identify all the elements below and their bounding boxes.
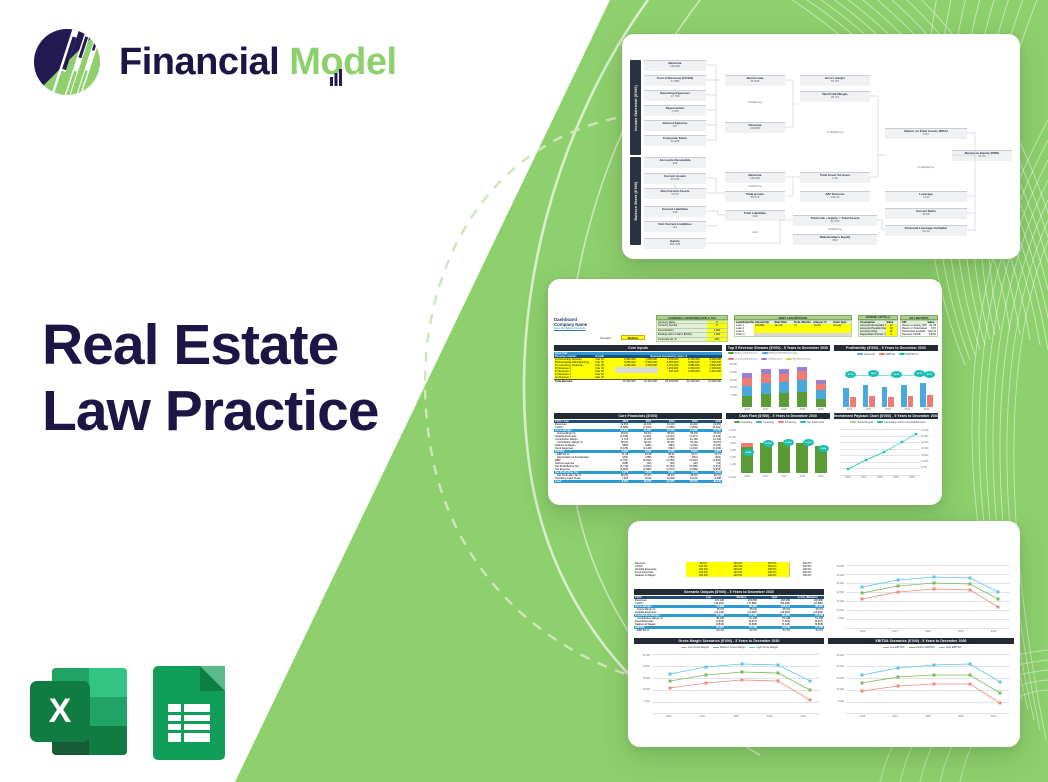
du-op-add: Add [725,230,785,234]
page-title: Real Estate Law Practice [42,312,472,444]
du-box-current-ratio: Current Ratio 58.98 [885,208,967,219]
du-box-revenue-3: Revenue 136,800 [725,172,785,183]
plot-gross-margin-scenarios [652,654,820,714]
core-inputs-table: Case Year Revenue streams Growth Revenue… [554,352,722,383]
yaxis-gross-margin-scenarios: 25,00020,000 15,00010,000 5,000- [634,654,650,714]
microsoft-excel-icon[interactable]: X [30,663,127,760]
data-label-bubble: 40.71 [924,371,935,378]
data-label-bubble: 10,050 [783,439,794,446]
table-row: Salaries & Wages 100.0% 100.0% 100.0% 10… [634,574,824,577]
du-box-net-profit-margin: Net Profit Margin 35.7% [800,91,870,102]
du-box-revenue: Revenue 136,800 [644,60,706,71]
legend-gross-margin-scenarios: Low Gross Margin Medium Gross Margin Hig… [652,646,807,649]
dashboard-sheet: Dashboard Company Name Go to the Table o… [548,279,942,505]
working-capital-table: Assumption Value Accounts Receivable Day… [858,320,898,337]
yaxis-ebitda-scenarios: 25,00020,000 15,00010,000 5,000- [828,654,844,714]
table-row: EBITDA %60.1%52.0%57.0%52.0% [634,629,824,632]
du-box-non-current-liabilities: Non Current Liabilities 101 [644,221,706,232]
legend-revenue-streams: A) Accounting Services B) Real Estate Ma… [728,352,830,361]
currency-rows: Currency Name $ Currency Symbol $ Denomi… [656,320,728,342]
du-box-current-liabilities: Current Liabilities 648 [644,206,706,217]
du-op-divided-2: divided by [725,184,785,188]
chart-title-cash-flow: Cash Flow ($'000) - 5 Years to December … [726,413,830,419]
excel-x-letter: X [30,681,90,742]
financial-model-circle-logo [31,26,103,98]
dashboard-screenshot[interactable]: Dashboard Company Name Go to the Table o… [548,279,942,505]
du-box-total-liab-equity: Total Liab + Equity = Total Assets 50,57… [793,215,877,226]
data-label-bubble: 41.28 [845,371,856,378]
du-op-divided-1: divided by [725,100,785,104]
file-format-icons: X [30,663,225,760]
data-label-bubble: 40.52 [891,371,902,378]
legend-profitability: Revenue EBITDA EBITDA % [848,353,928,356]
table-row: Depreciation Period, Years 5 [859,333,898,337]
brand-lockup: Financial Model [31,26,397,98]
debt-assumptions-table: Loan/Grant Name Amount ($) Start Date Te… [734,320,852,337]
xaxis-cash-flow: 20262027 20282029 2030 [738,475,830,478]
data-label-bubble: 8,250 [818,445,829,452]
du-box-non-current-assets: Non Current Assets 5,570 [644,188,706,199]
du-box-corporate-taxes: Corporate Taxes 20,926 [644,135,706,146]
du-box-net-income: Net Income 48,828 [725,75,785,86]
chart-title-profitability: Profitability ($'000) - 5 Years to Decem… [834,345,938,351]
ebitda-scenario-lines [846,654,1010,714]
xaxis-revenue-scenarios: 20262027 20282029 2030 [846,630,1010,633]
du-box-total-liabilities: Total Liabilities 949 [725,210,785,221]
legend-investment-payback: Payback goal Cumulative Cash (nominal/di… [848,421,928,424]
panel-key-metrics: KEY METRICS KPI Value Return on Equity (… [900,315,938,337]
brand-word-model: Model [289,41,396,83]
scenario-selector-label: Scenario [600,336,611,340]
plot-revenue-streams [738,363,830,407]
plot-ebitda-scenarios [846,654,1010,714]
brand-wordmark: Financial Model [119,43,397,81]
yaxis-revenue-scenarios: 35,00030,000 25,00020,000 15,00010,000 5… [828,565,844,629]
data-label-bubble: 8,004 [743,449,754,456]
data-label-bubble: 10,290 [763,440,774,447]
key-metrics-table: KPI Value Return on Equity (ROE) 61.03 R… [900,320,938,337]
du-box-leverage: Leverage 1.9% [885,191,967,202]
core-inputs-title: Core Inputs [554,345,722,351]
plot-investment-payback [840,429,920,475]
scenario-outputs-title: Scenario Outputs ($'000) - 5 Years to De… [634,589,824,595]
chart-title-gross-margin-scenarios: Gross Margin Scenarios ($'000) - 5 Years… [634,638,824,644]
headline-line-1: Real Estate [42,313,338,377]
google-sheets-icon[interactable] [153,666,225,760]
du-box-accounts-receivable: Accounts Receivable 948 [644,157,706,168]
du-box-roa: Return on Total Assets (ROA) 0.97 [885,128,967,139]
plot-profitability: 41.28 40.59 40.52 40.71 40.71 [840,362,936,407]
du-box-gross-margin: Gross margin 65.0% [800,75,870,86]
dashboard-title-block: Dashboard Company Name Go to the Table o… [554,317,587,330]
brand-word-financial: Financial [119,41,279,83]
sheets-table-glyph-icon [168,704,210,742]
chart-title-ebitda-scenarios: EBITDA Scenarios ($'000) - 5 Years to De… [828,638,1014,644]
du-op-multiplied-2: multiplied by [885,165,967,169]
dupont-sheet: Income Statement ($'000) Balance Sheet (… [622,34,1020,259]
du-box-roe: Return on Equity (ROE) 61.03 [952,150,1012,161]
du-box-total-assets: Total Assets 50,576 [725,191,785,202]
xaxis-profitability: 2026 2027 2028 2029 2030 [840,408,936,411]
headline-line-2: Law Practice [42,378,472,444]
du-box-opex: Operating Expenses 17,758 [644,90,706,101]
table-row: Grant 1 [735,333,852,337]
revenue-scenario-lines [846,565,1010,629]
panel-debt-assumptions: DEBT ASSUMPTIONS Loan/Grant Name Amount … [734,315,852,337]
core-financials-title: Core Financials ($'000) [554,413,722,419]
yaxis-investment-payback: 35,00030,000 25,00020,000 15,00010,000 5… [921,429,936,475]
table-row: Total Revenue 19,450,000 22,410,000 20,1… [554,379,722,383]
scenario-analysis-screenshot[interactable]: Revenue 90.0% 100.0% 110.0% 100.0% COGS … [628,521,1020,747]
slide-canvas: Financial Model Real Estate Law Practice… [0,0,1048,782]
panel-currency-denomination-tax: CURRENCY, DENOMINATION & TAX Currency Na… [656,315,728,342]
yaxis-revenue-streams: 25,000 20,000 15,000 10,000 5,000 - [726,363,737,405]
du-box-shareholders-equity: Shareholder's Equity 800 [793,234,877,245]
du-box-interest-expense: Interest Expense 127 [644,120,706,131]
panel-working-capital-depreciation: WORKING CAPITAL & DEPRECIATION Assumptio… [858,315,898,337]
spine-balance-sheet: Balance Sheet ($'000) [630,157,641,245]
scenario-selector-dropdown[interactable]: Medium [621,335,645,340]
xaxis-gross-margin-scenarios: 20262027 20282029 2030 [652,715,820,718]
dashboard-toc-link[interactable]: Go to the Table of Contents [554,327,587,330]
du-box-current-assets: Current Assets 50,006 [644,173,706,184]
legend-ebitda-scenarios: Low EBITDA Medium EBITDA High EBITDA [846,646,998,649]
du-box-total-asset-turnover: Total Asset Turnover 2.35 [800,172,870,183]
yaxis-cash-flow: 12,00010,000 8,0006,000 4,0002,000 -(2,0… [724,429,736,479]
dupont-analysis-screenshot[interactable]: Income Statement ($'000) Balance Sheet (… [622,34,1020,259]
xaxis-ebitda-scenarios: 20262027 20282029 2030 [846,715,1010,718]
du-box-cogs: Cost of Revenue (COGS) 47,880 [644,75,706,86]
xaxis-revenue-streams: 2026 2027 2028 2029 2030 [738,408,830,411]
du-op-multiplied-1: multiplied by [800,130,870,134]
payback-line-series [840,429,920,475]
plot-cash-flow: 8,004 10,290 10,050 10,701 8,250 [738,429,830,473]
du-box-equity: Equity #51,529 [644,238,706,249]
du-box-revenue-2: Revenue 136,800 [725,122,785,133]
du-box-financial-leverage-multiplier: Financial Leverage multiplier 63.22 [885,225,967,236]
profitability-ebitda-line [840,362,936,407]
gross-margin-scenario-lines [652,654,820,714]
plot-revenue-scenarios [846,565,1010,629]
dupont-tree: Income Statement ($'000) Balance Sheet (… [630,60,1014,245]
table-row: Revenue CAGR 3.55% [901,333,938,337]
du-box-ar-turnover: A/R Turnover 144.24 [800,191,870,202]
scenario-sheet: Revenue 90.0% 100.0% 110.0% 100.0% COGS … [628,521,1020,747]
table-row: Cash8,00418,29524,34535,04648,245 [554,480,722,483]
legend-cash-flow: Operating Investing Financing Net Cash F… [730,421,828,424]
xaxis-investment-payback: 20262027 20282029 2030 [840,476,920,479]
du-box-depreciation: Depreciation 1,265 [644,105,706,116]
chart-title-revenue-streams: Top 5 Revenue Streams ($'000) - 5 Years … [726,345,830,351]
chart-title-investment-payback: Investment Payback Chart ($'000) - 5 Yea… [834,413,938,419]
data-label-bubble: 10,701 [803,439,814,446]
spine-income-statement: Income Statement ($'000) [630,60,641,155]
du-op-divided-3: divided by [800,227,870,231]
data-label-bubble: 40.59 [868,370,879,377]
